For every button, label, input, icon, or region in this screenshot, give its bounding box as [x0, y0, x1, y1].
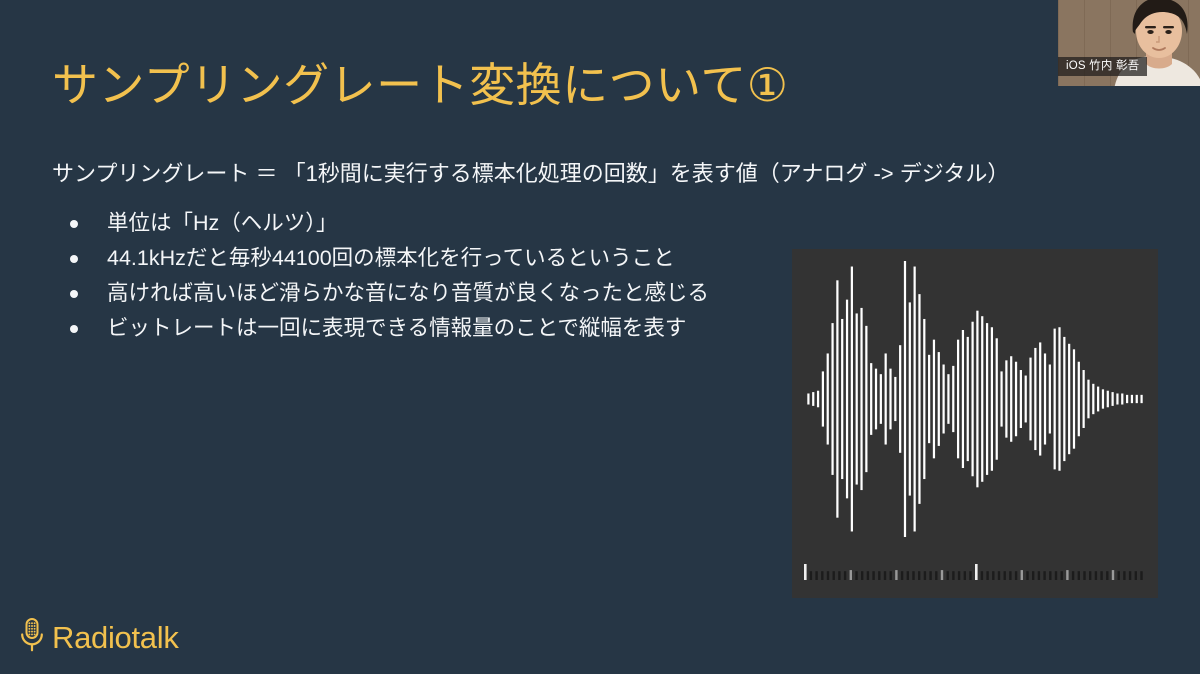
list-item-label: 44.1kHzだと毎秒44100回の標本化を行っているということ	[107, 246, 675, 270]
waveform-bars	[792, 249, 1158, 549]
list-item-label: ビットレートは一回に表現できる情報量のことで縦幅を表す	[107, 316, 686, 340]
bullet-dot-icon	[70, 255, 78, 263]
bullet-dot-icon	[70, 220, 78, 228]
list-item: 高ければ高いほど滑らかな音になり音質が良くなったと感じる	[62, 278, 782, 309]
bullet-dot-icon	[70, 290, 78, 298]
waveform-image	[792, 249, 1158, 598]
video-participant-tile[interactable]: iOS 竹内 彰吾	[1058, 0, 1200, 86]
waveform-timeline-ruler	[804, 564, 1146, 580]
brand-name: Radiotalk	[52, 620, 179, 656]
presentation-slide: サンプリングレート変換について① サンプリングレート ＝ 「1秒間に実行する標本…	[0, 0, 1200, 674]
slide-title: サンプリングレート変換について①	[52, 58, 788, 112]
list-item: 単位は「Hz（ヘルツ）」	[62, 208, 782, 239]
participant-name-label: iOS 竹内 彰吾	[1058, 57, 1147, 76]
list-item-label: 高ければ高いほど滑らかな音になり音質が良くなったと感じる	[107, 281, 709, 305]
list-item: ビットレートは一回に表現できる情報量のことで縦幅を表す	[62, 313, 782, 344]
slide-lead-text: サンプリングレート ＝ 「1秒間に実行する標本化処理の回数」を表す値（アナログ …	[52, 160, 1009, 189]
microphone-icon	[18, 617, 46, 658]
list-item: 44.1kHzだと毎秒44100回の標本化を行っているということ	[62, 243, 782, 274]
brand-logo: Radiotalk	[18, 617, 179, 658]
bullet-dot-icon	[70, 325, 78, 333]
list-item-label: 単位は「Hz（ヘルツ）」	[107, 211, 338, 235]
bullet-list: 単位は「Hz（ヘルツ）」 44.1kHzだと毎秒44100回の標本化を行っている…	[62, 208, 782, 348]
